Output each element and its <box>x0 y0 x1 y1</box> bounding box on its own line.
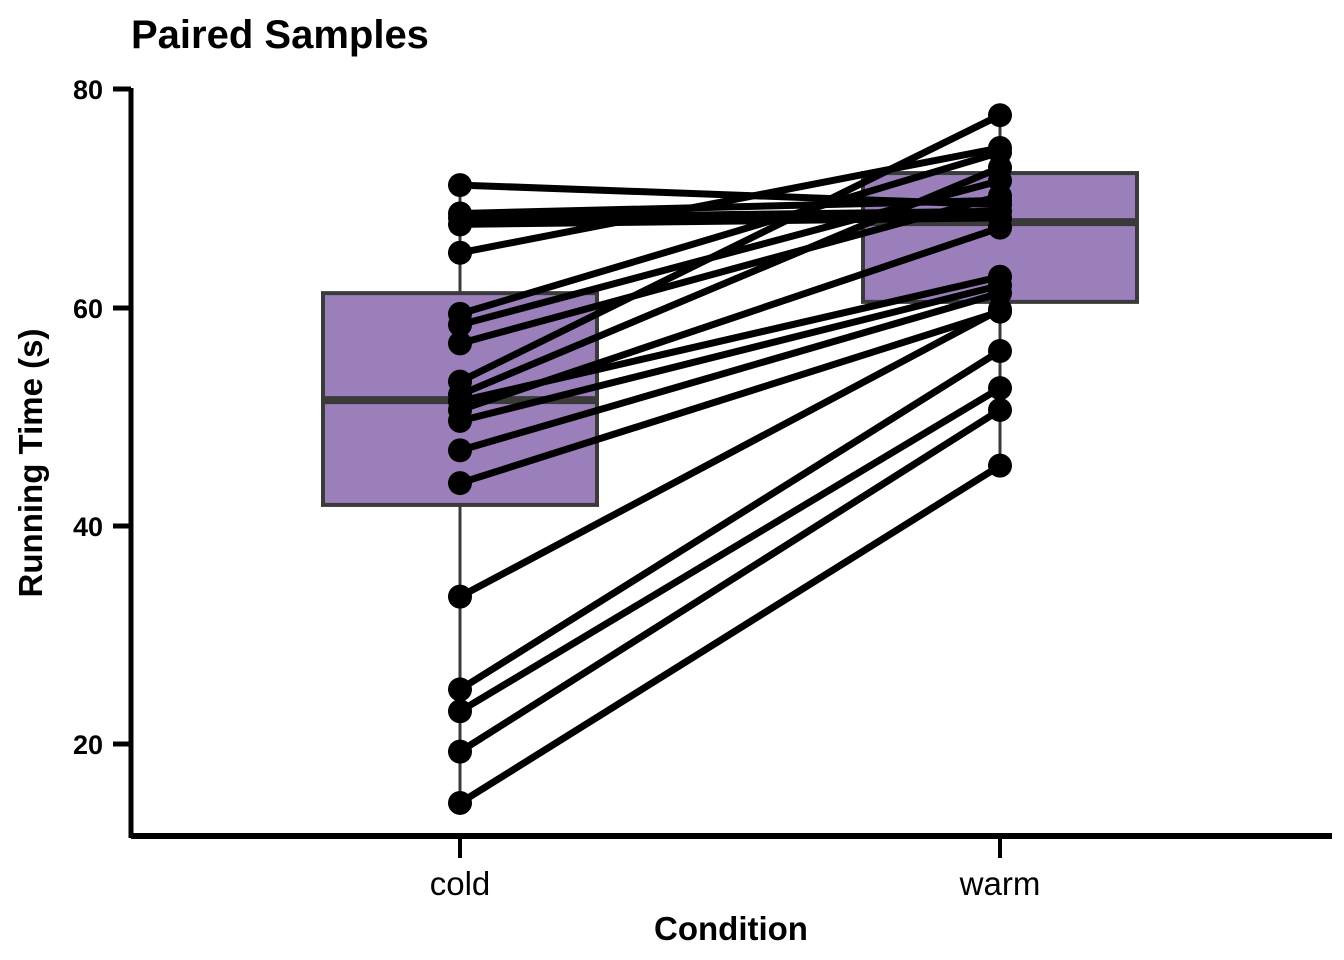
data-point-warm <box>988 156 1012 180</box>
data-point-warm <box>988 454 1012 478</box>
data-point-cold <box>448 471 472 495</box>
x-axis-label: Condition <box>654 910 808 947</box>
data-point-warm <box>988 298 1012 322</box>
y-tick-label-20: 20 <box>73 730 103 760</box>
data-point-cold <box>448 585 472 609</box>
x-tick-label-cold: cold <box>430 865 491 902</box>
x-tick-label-warm: warm <box>959 865 1041 902</box>
data-point-warm <box>988 339 1012 363</box>
data-point-warm <box>988 184 1012 208</box>
data-point-warm <box>988 103 1012 127</box>
y-tick-label-80: 80 <box>73 75 103 105</box>
data-point-cold <box>448 677 472 701</box>
data-point-cold <box>448 791 472 815</box>
data-point-cold <box>448 740 472 764</box>
data-point-warm <box>988 216 1012 240</box>
data-point-cold <box>448 241 472 265</box>
paired-samples-boxplot: Paired Samples 80 60 40 20 Running Time … <box>0 0 1344 960</box>
data-point-cold <box>448 409 472 433</box>
y-tick-label-40: 40 <box>73 512 103 542</box>
chart-canvas: Paired Samples 80 60 40 20 Running Time … <box>0 0 1344 960</box>
y-axis-label: Running Time (s) <box>12 329 49 598</box>
y-tick-label-60: 60 <box>73 294 103 324</box>
data-point-cold <box>448 331 472 355</box>
data-point-cold <box>448 212 472 236</box>
data-point-warm <box>988 398 1012 422</box>
chart-title: Paired Samples <box>131 13 429 57</box>
data-point-cold <box>448 438 472 462</box>
data-point-cold <box>448 173 472 197</box>
data-point-warm <box>988 376 1012 400</box>
data-point-cold <box>448 699 472 723</box>
